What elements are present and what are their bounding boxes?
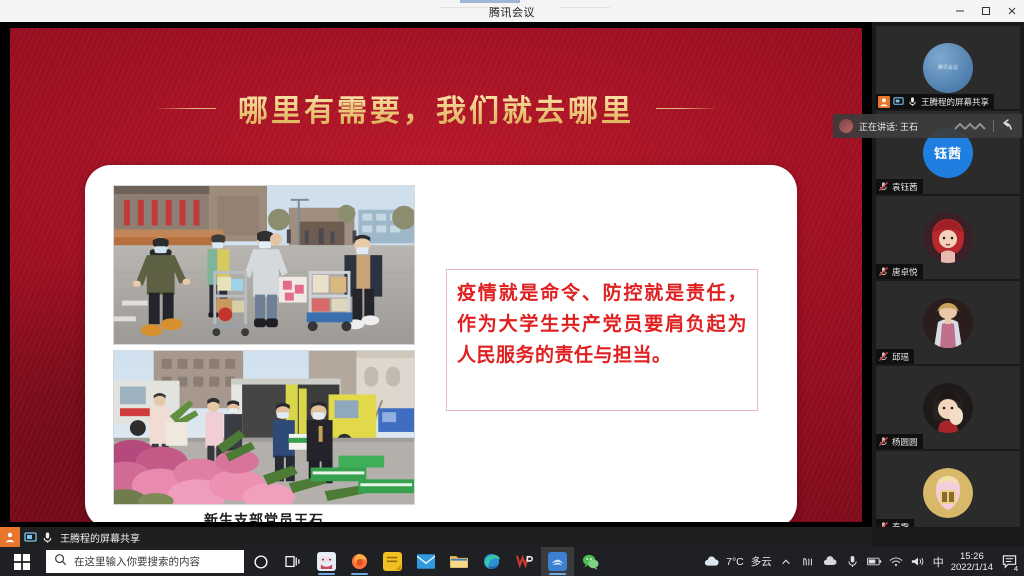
firefox-icon[interactable] [343, 547, 376, 576]
participant-name: 王腾程的屏幕共享 [921, 96, 989, 108]
mail-icon[interactable] [409, 547, 442, 576]
avatar [923, 383, 973, 433]
participant-name: 唐卓悦 [892, 266, 918, 278]
participant-tile[interactable]: 唐卓悦 [876, 196, 1020, 279]
shared-screen-stage: 哪里有需要，我们就去哪里 [0, 22, 872, 527]
avatar [923, 468, 973, 518]
participant-tile[interactable]: 杨圆圆 [876, 366, 1020, 449]
microphone-muted-icon [878, 266, 889, 277]
search-icon [54, 553, 67, 571]
speaker-avatar [839, 119, 853, 133]
participants-sidebar[interactable]: 腾讯会议 王腾程的屏幕共享 钰茜 [872, 22, 1024, 527]
window-controls [953, 0, 1018, 22]
speaking-label: 正在讲话: 王石 [859, 120, 918, 133]
wifi-icon[interactable] [889, 554, 904, 569]
task-underline [549, 573, 566, 575]
microphone-muted-icon [878, 351, 889, 362]
minimize-button[interactable] [953, 5, 966, 18]
wechat-icon[interactable] [574, 547, 607, 576]
sidebar-footer [872, 527, 1024, 547]
slide-title-row: 哪里有需要，我们就去哪里 [10, 86, 862, 130]
search-input[interactable]: 在这里输入你要搜索的内容 [46, 550, 244, 573]
host-badge-icon [0, 527, 20, 547]
participant-name: 杨圆圆 [892, 436, 918, 448]
notification-count: 4 [1013, 565, 1019, 573]
microphone-icon [41, 531, 54, 544]
microphone-tray-icon[interactable] [845, 554, 860, 569]
share-label: 王腾程的屏幕共享 [60, 530, 140, 545]
window-titlebar: 腾讯会议 [0, 0, 1024, 22]
xiaomi-tray-icon[interactable] [801, 554, 816, 569]
window-title: 腾讯会议 [489, 4, 535, 20]
avatar-label: 钰茜 [934, 143, 962, 162]
avatar [923, 213, 973, 263]
notification-center-icon[interactable]: 4 [1000, 553, 1018, 571]
edge-icon[interactable] [475, 547, 508, 576]
photo-unloading-vegetables [113, 350, 415, 505]
toast-separator [993, 120, 994, 132]
screen-root: 腾讯会议 哪里有需要，我们就去哪里 [0, 0, 1024, 576]
cortana-icon[interactable] [244, 547, 277, 576]
system-tray: 7°C 多云 中 15: [704, 547, 1024, 576]
screen-share-icon [893, 96, 904, 107]
presentation-slide: 哪里有需要，我们就去哪里 [10, 28, 862, 522]
file-explorer-icon[interactable] [442, 547, 475, 576]
participant-tile[interactable]: 腾讯会议 王腾程的屏幕共享 [876, 26, 1020, 109]
microphone-muted-icon [878, 436, 889, 447]
participant-tile[interactable]: 秦霜 [876, 451, 1020, 534]
clock-time: 15:26 [960, 551, 984, 562]
participant-nameplate: 杨圆圆 [876, 434, 923, 449]
participant-nameplate: 王腾程的屏幕共享 [876, 94, 994, 109]
participant-nameplate: 邱瑶 [876, 349, 914, 364]
title-rule-right [656, 108, 718, 109]
clock-date: 2022/1/14 [951, 562, 993, 573]
title-rule-left [154, 108, 216, 109]
wps-icon[interactable] [508, 547, 541, 576]
titlebar-tabstrip [460, 0, 590, 3]
cloud-sync-icon[interactable] [823, 554, 838, 569]
microphone-muted-icon [878, 181, 889, 192]
start-button[interactable] [0, 547, 44, 576]
windows-taskbar: 在这里输入你要搜索的内容 [0, 547, 1024, 576]
photo-caption: 新生支部党员王石 [113, 510, 415, 522]
participant-name: 袁钰茜 [892, 181, 918, 193]
character-app-icon[interactable] [310, 547, 343, 576]
screen-share-icon [24, 531, 37, 544]
quote-box: 疫情就是命令、防控就是责任，作为大学生共产党员要肩负起为人民服务的责任与担当。 [446, 269, 758, 411]
ime-indicator[interactable]: 中 [933, 554, 944, 570]
titlebar-rule-right [560, 7, 610, 8]
battery-icon[interactable] [867, 554, 882, 569]
participant-name: 邱瑶 [892, 351, 909, 363]
task-underline [351, 573, 368, 575]
host-badge-icon [878, 96, 890, 108]
task-underline [318, 573, 335, 575]
participant-tile[interactable]: 邱瑶 [876, 281, 1020, 364]
avatar: 腾讯会议 [923, 43, 973, 93]
speaking-indicator: 正在讲话: 王石 [833, 114, 1022, 138]
search-placeholder: 在这里输入你要搜索的内容 [74, 554, 200, 569]
slide-content-card: 新生支部党员王石 疫情就是命令、防控就是责任，作为大学生共产党员要肩负起为人民服… [85, 165, 797, 522]
notes-icon[interactable] [376, 547, 409, 576]
show-hidden-icons-chevron[interactable] [779, 554, 794, 569]
weather-temperature[interactable]: 7°C [726, 556, 744, 568]
titlebar-accent [460, 0, 520, 3]
tencent-meeting-icon[interactable] [541, 547, 574, 576]
volume-icon[interactable] [911, 554, 926, 569]
participant-nameplate: 袁钰茜 [876, 179, 923, 194]
return-arrow-icon[interactable] [1000, 118, 1016, 134]
participant-nameplate: 唐卓悦 [876, 264, 923, 279]
close-button[interactable] [1005, 5, 1018, 18]
task-view-icon[interactable] [277, 547, 310, 576]
photo-volunteers-carts [113, 185, 415, 345]
maximize-button[interactable] [979, 5, 992, 18]
avatar-label: 腾讯会议 [938, 65, 958, 71]
quote-text: 疫情就是命令、防控就是责任，作为大学生共产党员要肩负起为人民服务的责任与担当。 [457, 278, 747, 371]
chevron-up-icon[interactable] [953, 120, 987, 132]
weather-description[interactable]: 多云 [751, 554, 772, 569]
avatar [923, 298, 973, 348]
clock[interactable]: 15:26 2022/1/14 [951, 551, 993, 573]
slide-title: 哪里有需要，我们就去哪里 [238, 86, 634, 130]
weather-cloud-icon[interactable] [704, 554, 719, 569]
share-status-bar: 王腾程的屏幕共享 [0, 527, 872, 547]
microphone-icon [907, 96, 918, 107]
